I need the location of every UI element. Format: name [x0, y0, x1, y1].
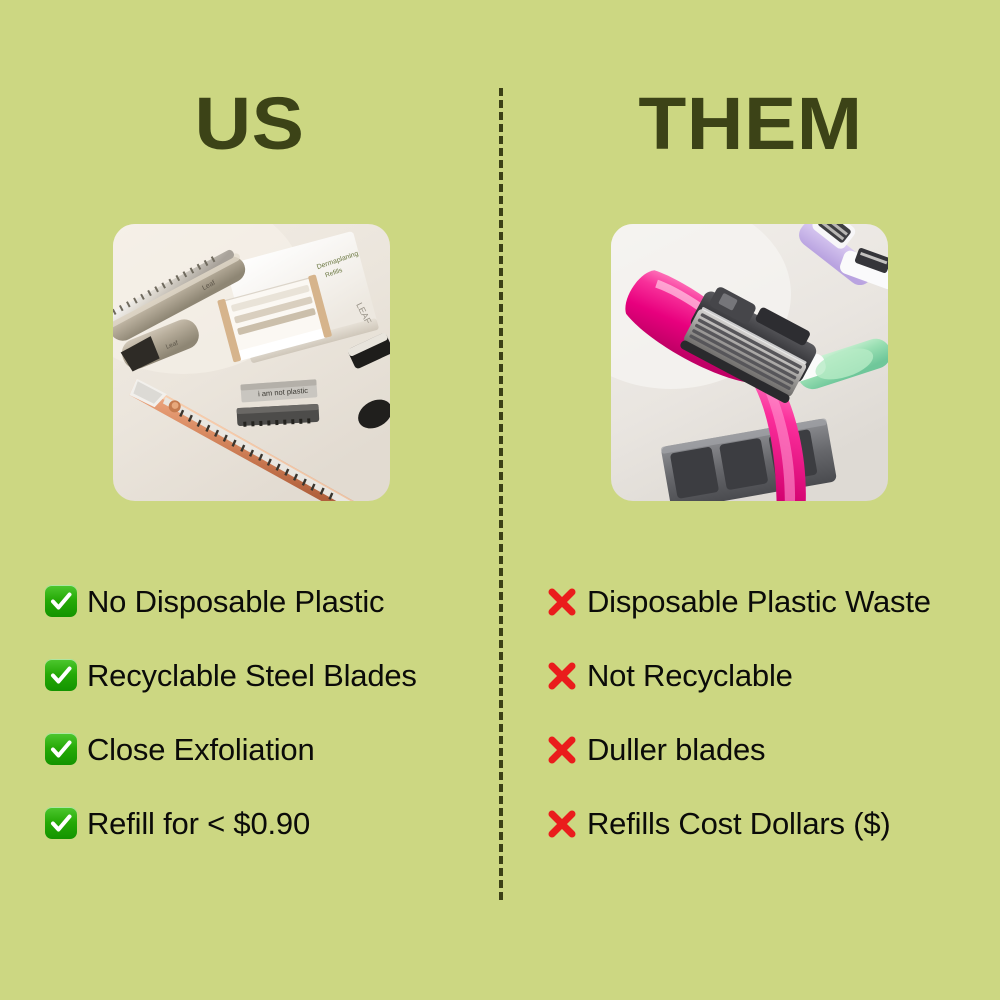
page-title-us: US — [0, 82, 514, 166]
feature-list-us: No Disposable Plastic Recyclable Steel B… — [44, 578, 484, 846]
list-item-label: Recyclable Steel Blades — [87, 660, 417, 691]
cross-mark-icon — [544, 805, 580, 841]
white-heavy-check-mark-icon — [44, 583, 80, 619]
white-heavy-check-mark-icon — [44, 805, 80, 841]
page-title-them: THEM — [486, 82, 1000, 166]
list-item: Not Recyclable — [544, 652, 988, 698]
list-item-label: No Disposable Plastic — [87, 586, 384, 617]
comparison-graphic: US THEM — [0, 0, 1000, 1000]
list-item: Close Exfoliation — [44, 726, 484, 772]
list-item: Refills Cost Dollars ($) — [544, 800, 988, 846]
feature-list-them: Disposable Plastic Waste Not Recyclable … — [544, 578, 988, 846]
list-item: Disposable Plastic Waste — [544, 578, 988, 624]
vertical-dashed-divider — [499, 88, 503, 900]
product-photo-us: Dermaplaning Refills LEAF — [113, 224, 390, 501]
white-heavy-check-mark-icon — [44, 657, 80, 693]
cross-mark-icon — [544, 731, 580, 767]
cross-mark-icon — [544, 657, 580, 693]
list-item-label: Disposable Plastic Waste — [587, 586, 931, 617]
list-item: Refill for < $0.90 — [44, 800, 484, 846]
list-item: Duller blades — [544, 726, 988, 772]
list-item: Recyclable Steel Blades — [44, 652, 484, 698]
product-photo-them — [611, 224, 888, 501]
white-heavy-check-mark-icon — [44, 731, 80, 767]
cross-mark-icon — [544, 583, 580, 619]
list-item: No Disposable Plastic — [44, 578, 484, 624]
list-item-label: Not Recyclable — [587, 660, 793, 691]
list-item-label: Refills Cost Dollars ($) — [587, 808, 891, 839]
list-item-label: Duller blades — [587, 734, 765, 765]
list-item-label: Refill for < $0.90 — [87, 808, 310, 839]
list-item-label: Close Exfoliation — [87, 734, 315, 765]
